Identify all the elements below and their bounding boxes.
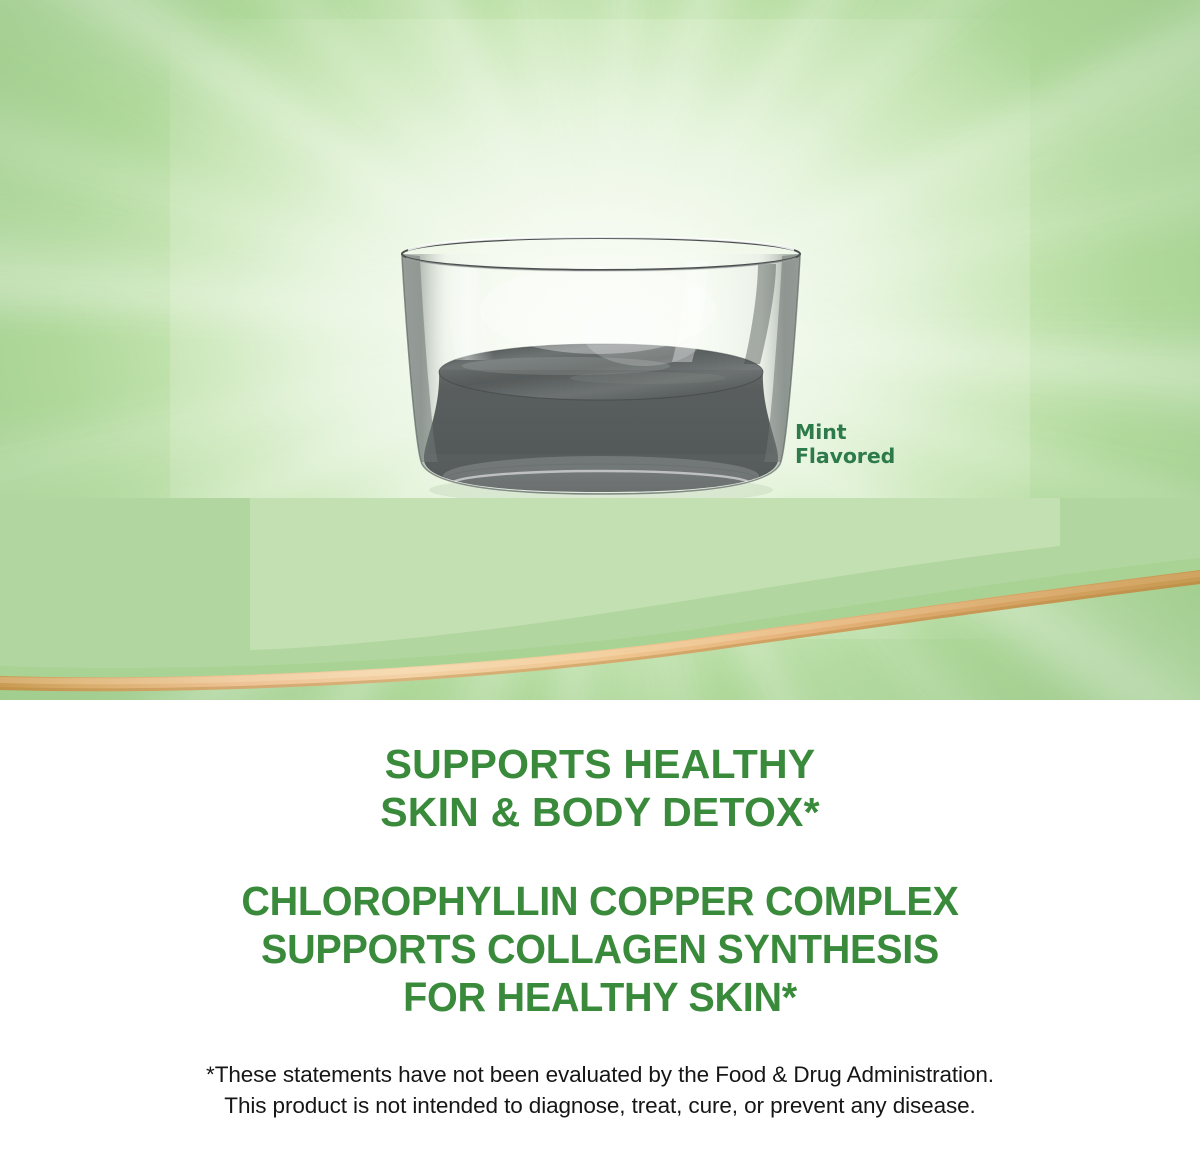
headline-primary: SUPPORTS HEALTHY SKIN & BODY DETOX*	[0, 740, 1200, 836]
glass-bowl-with-liquid-image	[386, 236, 816, 506]
fda-disclaimer: *These statements have not been evaluate…	[0, 1059, 1200, 1121]
mint-flavored-callout: Mint Flavored	[795, 421, 895, 468]
bowl-glass-body	[402, 254, 800, 498]
copy-block: SUPPORTS HEALTHY SKIN & BODY DETOX* CHLO…	[0, 740, 1200, 1121]
product-benefits-panel: Mint Flavored	[0, 0, 1200, 1161]
hero-section: Mint Flavored	[0, 0, 1200, 700]
headline-secondary: CHLOROPHYLLIN COPPER COMPLEX SUPPORTS CO…	[21, 877, 1179, 1021]
